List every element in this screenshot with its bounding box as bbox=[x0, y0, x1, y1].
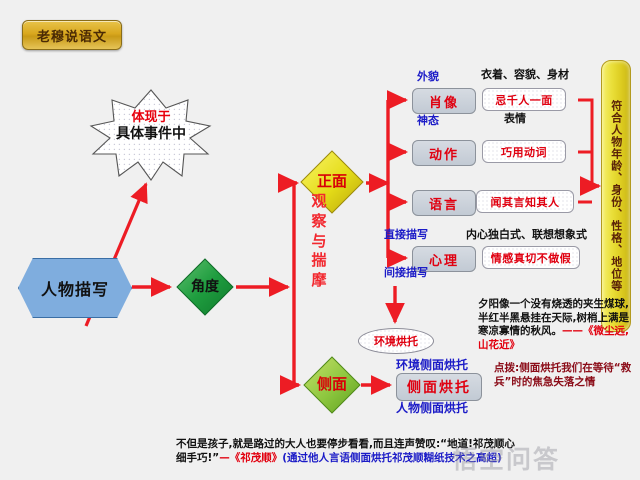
node-side[interactable]: 侧面 bbox=[303, 356, 361, 414]
node-angle[interactable]: 角度 bbox=[176, 258, 234, 316]
node-environment-foil-label: 环境烘托 bbox=[374, 333, 418, 349]
tip-box-speech-label: 闻其言知其人 bbox=[491, 194, 560, 210]
tip-box-action-label: 巧用动词 bbox=[501, 144, 547, 160]
teaching-tip: 点拨:侧面烘托我们在等待“救兵”时的焦急失落之情 bbox=[494, 362, 640, 390]
node-front-label: 正面 bbox=[317, 174, 347, 190]
bottom-quote: 不但是孩子,就是路过的大人也要停步看看,而且连声赞叹:“地道!祁茂顺心 细手巧!… bbox=[176, 437, 638, 465]
tip-box-psychology: 情感真切不做假 bbox=[482, 246, 580, 269]
right-requirement-panel: 符合人物年龄、身份、性格、地位等 bbox=[601, 60, 631, 332]
node-psychology-label: 心理 bbox=[429, 250, 459, 269]
bottom-quote-note: (通过他人言语侧面烘托祁茂顺糊纸技术之高超) bbox=[282, 452, 502, 464]
node-portrait-label: 肖像 bbox=[429, 92, 459, 111]
tip-box-speech: 闻其言知其人 bbox=[476, 190, 574, 213]
node-front-text: 正面 bbox=[317, 172, 347, 190]
tip-box-portrait-label: 忌千人一面 bbox=[495, 92, 553, 108]
node-side-text: 侧面 bbox=[317, 375, 347, 393]
example-passage: 夕阳像一个没有烧透的夹生煤球,半红半黑悬挂在天际,树梢上满是寒凉寡情的秋风。——… bbox=[478, 298, 636, 353]
tip-box-action: 巧用动词 bbox=[482, 140, 566, 163]
node-speech[interactable]: 语言 bbox=[412, 190, 476, 216]
caption-direct-description: 直接描写 bbox=[384, 226, 428, 242]
caption-indirect-description: 间接描写 bbox=[384, 264, 428, 280]
star-text: 体现于 具体事件中 bbox=[78, 110, 224, 143]
node-side-foil-label: 侧面烘托 bbox=[407, 377, 471, 397]
node-side-foil[interactable]: 侧面烘托 bbox=[396, 373, 482, 401]
node-angle-text: 角度 bbox=[191, 279, 219, 295]
node-person-description-label: 人物描写 bbox=[41, 276, 109, 300]
star-callout: 体现于 具体事件中 bbox=[78, 88, 224, 182]
title-badge-label: 老穆说语文 bbox=[37, 26, 107, 45]
caption-environment-side-foil: 环境侧面烘托 bbox=[396, 356, 468, 373]
node-portrait[interactable]: 肖像 bbox=[412, 88, 476, 114]
observe-vertical-caption: 观察与揣摩 bbox=[306, 192, 332, 291]
diagram-canvas: 老穆说语文 体现于 具体事件中 人物描写 bbox=[0, 0, 640, 480]
caption-appearance: 外貌 bbox=[417, 68, 439, 84]
node-action[interactable]: 动作 bbox=[412, 140, 476, 166]
node-action-label: 动作 bbox=[429, 144, 459, 163]
caption-person-side-foil: 人物侧面烘托 bbox=[396, 399, 468, 416]
caption-appearance-items: 衣着、容貌、身材 bbox=[481, 66, 569, 82]
node-speech-label: 语言 bbox=[429, 194, 459, 213]
node-side-label: 侧面 bbox=[317, 377, 347, 393]
right-requirement-panel-label: 符合人物年龄、身份、性格、地位等 bbox=[609, 100, 622, 292]
star-line-1: 体现于 bbox=[78, 110, 224, 126]
tip-box-portrait: 忌千人一面 bbox=[482, 88, 566, 111]
star-line-2: 具体事件中 bbox=[78, 126, 224, 143]
bottom-quote-line1: 不但是孩子,就是路过的大人也要停步看看,而且连声赞叹:“地道!祁茂顺心 bbox=[176, 438, 515, 450]
tip-box-psychology-label: 情感真切不做假 bbox=[491, 250, 572, 266]
caption-demeanor: 神态 bbox=[417, 112, 439, 128]
node-environment-foil[interactable]: 环境烘托 bbox=[358, 328, 434, 354]
bottom-quote-line2: 细手巧!” bbox=[176, 452, 219, 464]
caption-expression: 表情 bbox=[504, 110, 526, 126]
node-angle-label: 角度 bbox=[191, 280, 219, 295]
bottom-quote-source: —《祁茂顺》 bbox=[219, 452, 282, 464]
caption-monologue: 内心独白式、联想想象式 bbox=[466, 226, 587, 242]
title-badge[interactable]: 老穆说语文 bbox=[22, 20, 122, 50]
node-person-description[interactable]: 人物描写 bbox=[18, 258, 132, 318]
